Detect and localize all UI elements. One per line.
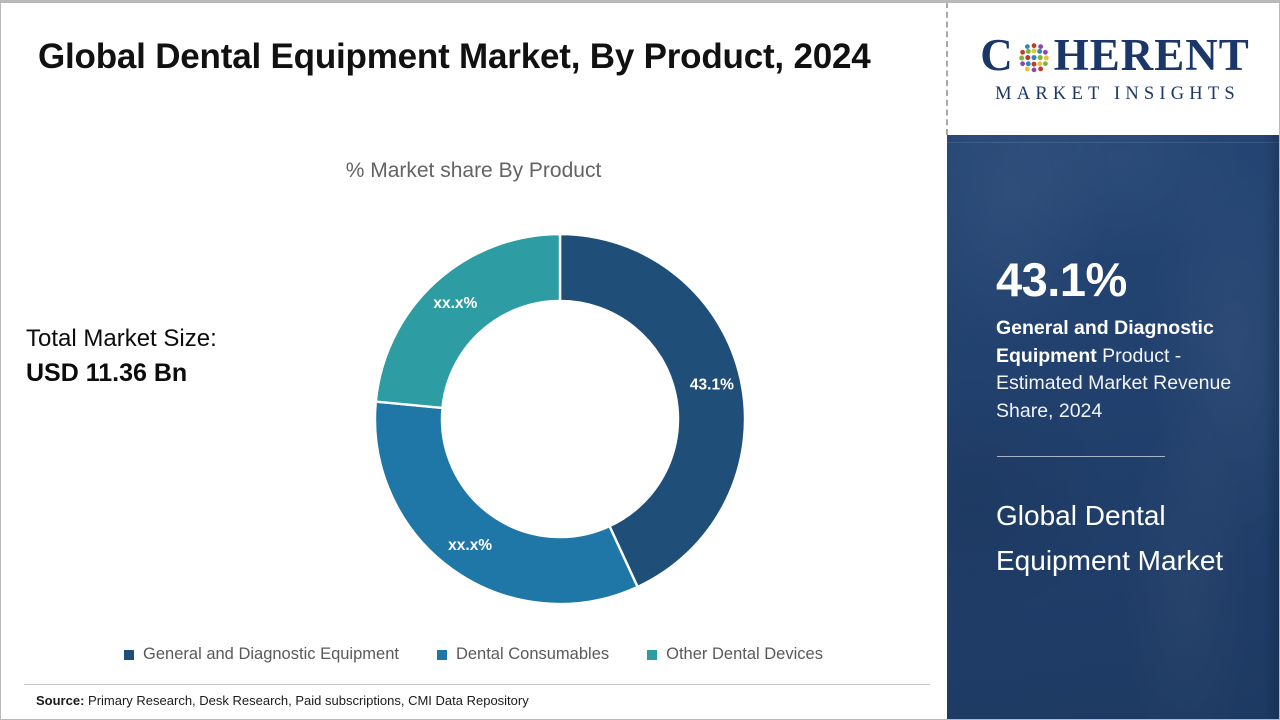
logo-band: C (950, 2, 1280, 135)
legend-swatch-icon (437, 650, 447, 660)
legend-item[interactable]: Other Dental Devices (647, 645, 823, 664)
chart-legend: General and Diagnostic EquipmentDental C… (0, 645, 947, 664)
panel-market-name: Global Dental Equipment Market (996, 493, 1241, 584)
legend-item[interactable]: General and Diagnostic Equipment (124, 645, 399, 664)
panel-background-image (947, 135, 1280, 720)
legend-swatch-icon (124, 650, 134, 660)
chart-pane: Global Dental Equipment Market, By Produ… (0, 0, 947, 720)
panel-divider-rule (997, 456, 1165, 457)
highlight-side-panel: 43.1% General and Diagnostic Equipment P… (947, 135, 1280, 720)
source-line: Source: Primary Research, Desk Research,… (36, 693, 529, 708)
chart-subtitle: % Market share By Product (0, 159, 947, 183)
coherent-market-insights-logo: C (965, 33, 1265, 104)
legend-item[interactable]: Dental Consumables (437, 645, 609, 664)
logo-letter-c: C (980, 33, 1014, 78)
infographic-page: Global Dental Equipment Market, By Produ… (0, 0, 1280, 720)
legend-item-label: General and Diagnostic Equipment (143, 645, 399, 664)
logo-wordmark-rest: HERENT (1054, 33, 1250, 78)
vertical-dashed-divider (946, 2, 948, 135)
donut-slice-label: xx.x% (433, 295, 477, 312)
donut-slice-label: 43.1% (690, 377, 734, 394)
key-stat-value: 43.1% (996, 256, 1246, 304)
globe-icon (1015, 39, 1053, 77)
donut-slice (375, 402, 638, 604)
key-stat-block: 43.1% General and Diagnostic Equipment P… (996, 256, 1246, 426)
total-market-size-block: Total Market Size: USD 11.36 Bn (26, 323, 326, 390)
donut-slice-label: xx.x% (448, 537, 492, 554)
donut-slice (376, 234, 560, 408)
legend-swatch-icon (647, 650, 657, 660)
legend-item-label: Other Dental Devices (666, 645, 823, 664)
key-stat-caption: General and Diagnostic Equipment Product… (996, 315, 1246, 426)
donut-chart: 43.1%xx.x%xx.x% (375, 234, 745, 604)
logo-wordmark: C (965, 33, 1265, 78)
donut-slice-group (375, 234, 745, 604)
legend-item-label: Dental Consumables (456, 645, 609, 664)
logo-tagline: MARKET INSIGHTS (965, 85, 1265, 104)
page-title: Global Dental Equipment Market, By Produ… (38, 32, 898, 82)
total-market-size-label: Total Market Size: (26, 323, 326, 355)
source-prefix: Source: (36, 693, 84, 708)
donut-chart-svg: 43.1%xx.x%xx.x% (375, 234, 745, 604)
panel-edge-shade (1264, 135, 1280, 720)
total-market-size-value: USD 11.36 Bn (26, 357, 326, 391)
source-text: Primary Research, Desk Research, Paid su… (84, 693, 528, 708)
source-divider (24, 684, 930, 685)
